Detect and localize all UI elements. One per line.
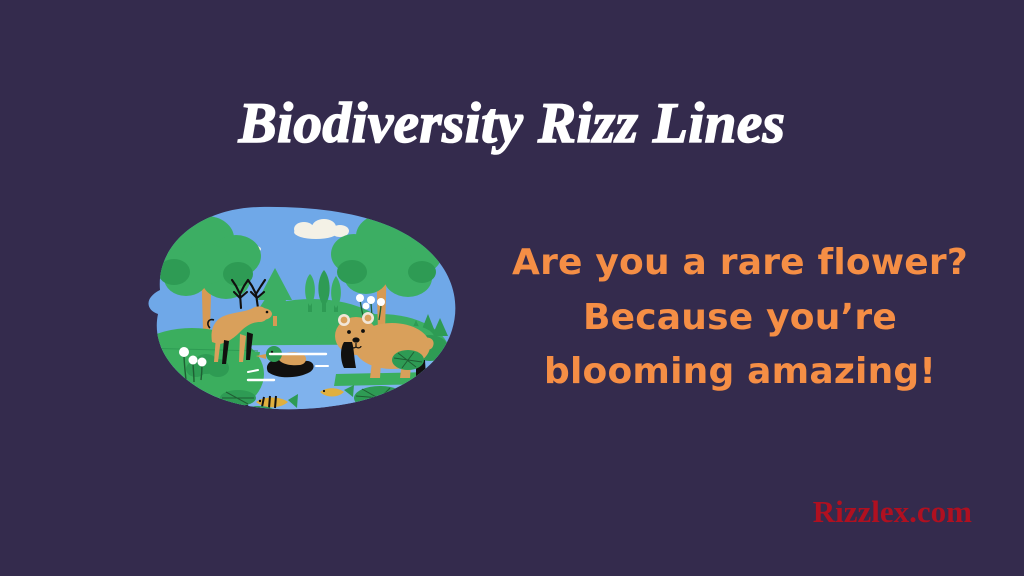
quote-line-1: Are you a rare flower?	[500, 236, 980, 291]
illustration-scene	[140, 202, 464, 430]
watermark-rizzlex: Rizzlex.com	[813, 494, 972, 530]
poster-canvas: Biodiversity Rizz Lines	[0, 0, 1024, 576]
biodiversity-illustration	[140, 202, 464, 430]
quote-text: Are you a rare flower? Because you’re bl…	[500, 236, 980, 400]
quote-line-2: Because you’re	[500, 291, 980, 346]
quote-line-3: blooming amazing!	[500, 345, 980, 400]
page-title: Biodiversity Rizz Lines	[0, 94, 1024, 154]
fish	[289, 410, 342, 424]
